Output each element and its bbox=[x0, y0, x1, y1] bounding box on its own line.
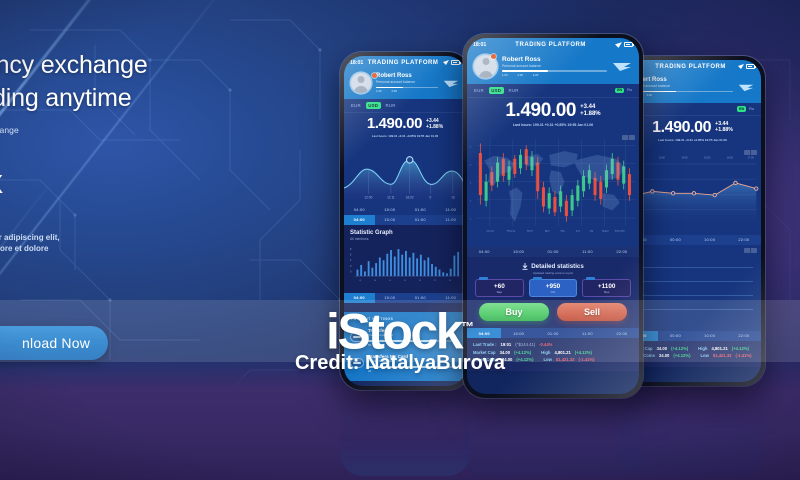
currency-rur-center[interactable]: RUR bbox=[509, 88, 519, 93]
zoom-toggle-right[interactable] bbox=[744, 150, 757, 155]
currency-rur-left[interactable]: RUR bbox=[386, 103, 396, 108]
price-value-center: 1.490.00 bbox=[505, 101, 576, 121]
svg-text:13:00: 13:00 bbox=[659, 156, 666, 159]
user-name-left: Robert Ross bbox=[376, 73, 438, 79]
price-deltas-right: +3.44 +1.88% bbox=[715, 121, 733, 133]
lang-badge-center[interactable]: EN bbox=[615, 88, 624, 94]
app-title-left: TRADING PLATFORM bbox=[363, 60, 443, 66]
tick-left: 1.00 bbox=[376, 89, 381, 93]
stat-value-sep: +60 bbox=[476, 283, 523, 290]
stat-value-oct: +950 bbox=[530, 283, 577, 290]
phone-left-reflection bbox=[340, 392, 470, 476]
signal-icon bbox=[443, 60, 449, 65]
time-tick-r4[interactable]: 22:00 bbox=[727, 235, 761, 245]
delta-pct-left: +1.88% bbox=[426, 124, 443, 130]
svg-text:26: 26 bbox=[449, 279, 451, 281]
promo-headline-line1: urrency exchange bbox=[0, 51, 148, 79]
profile-row-left[interactable]: Robert Ross Personal account balance 1.0… bbox=[344, 69, 466, 99]
stat-box-sep[interactable]: +60 Sep bbox=[475, 279, 524, 298]
svg-text:0: 0 bbox=[429, 195, 431, 199]
stat-box-oct[interactable]: +950 Oct bbox=[529, 279, 578, 298]
tick-c1: 1.00 bbox=[502, 73, 507, 77]
time-axis-left[interactable]: 04:00 15:00 01:00 11:00 bbox=[344, 205, 466, 215]
user-meta-right: Personal account balance bbox=[631, 84, 733, 88]
delta-pct-right: +1.88% bbox=[715, 127, 733, 133]
price-value-right: 1.490.00 bbox=[652, 119, 711, 136]
phone-right-reflection bbox=[620, 388, 765, 476]
time-axis-right[interactable]: 15:00 00:00 10:00 22:00 bbox=[624, 235, 761, 245]
statistic-graph-title: Statistic Graph bbox=[350, 230, 460, 236]
svg-text:16: 16 bbox=[451, 195, 455, 199]
battery-icon-right bbox=[746, 64, 755, 69]
status-icons-right bbox=[738, 64, 755, 69]
promo-subline: ons for exchange bbox=[0, 125, 252, 135]
avatar-left bbox=[351, 73, 371, 93]
svg-text:14:00: 14:00 bbox=[681, 156, 688, 159]
lang-alt-center[interactable]: Ru bbox=[627, 88, 632, 92]
battery-icon bbox=[451, 60, 460, 65]
tick-c3: 4.00 bbox=[533, 73, 538, 77]
time-tick-ct3[interactable]: 01:00 bbox=[536, 247, 570, 257]
promo-uiux-title: I/UX bbox=[0, 169, 252, 200]
istock-watermark-credit: Credit: NatalyaBurova bbox=[0, 352, 800, 375]
promo-copy: urrency exchange , trading anytime ons f… bbox=[0, 50, 252, 254]
status-bar-left: 18:01 TRADING PLATFORM bbox=[344, 56, 466, 69]
line-chart-right[interactable]: 12:0013:0014:00 15:0016:0017:00 bbox=[624, 147, 761, 235]
price-block-left: 1.490.00 +3.44 +1.88% Last hours: 199.31… bbox=[344, 113, 466, 143]
status-time-left: 18:01 bbox=[350, 60, 363, 66]
download-arrow-icon bbox=[522, 263, 528, 270]
profile-row-center[interactable]: Robert Ross Personal account balance 1.0… bbox=[467, 51, 639, 84]
promo-lorem-line2: didunt ut labore et dolore bbox=[0, 243, 252, 254]
time-tick-ct2[interactable]: 15:00 bbox=[501, 247, 535, 257]
time-tick-a1[interactable]: 04:00 bbox=[344, 215, 375, 225]
balance-progress-center bbox=[502, 70, 607, 72]
trademark-symbol: ™ bbox=[461, 319, 474, 334]
time-tick-ct1[interactable]: 04:00 bbox=[467, 247, 501, 257]
user-name-right: Robert Ross bbox=[631, 77, 733, 83]
currency-eur-center[interactable]: EUR bbox=[474, 88, 484, 93]
app-title-right: TRADING PLATFORM bbox=[643, 64, 738, 70]
svg-text:11:11: 11:11 bbox=[387, 195, 395, 199]
stat-value-nov: +1100 bbox=[583, 283, 630, 290]
stat-tag-nov bbox=[586, 277, 595, 280]
lang-badge-right[interactable]: EN bbox=[737, 106, 746, 112]
time-tick-3[interactable]: 01:00 bbox=[405, 205, 436, 215]
svg-text:12:00: 12:00 bbox=[364, 195, 372, 199]
app-title-center: TRADING PLATFORM bbox=[486, 42, 615, 48]
detailed-statistics-sub: Updated trading volume report bbox=[467, 271, 639, 279]
time-tick-4[interactable]: 11:00 bbox=[436, 205, 467, 215]
svg-text:06: 06 bbox=[374, 279, 376, 281]
time-tick-2[interactable]: 15:00 bbox=[375, 205, 406, 215]
time-axis-left-active[interactable]: 04:00 15:00 01:00 11:00 bbox=[344, 215, 466, 225]
svg-text:18: 18 bbox=[419, 279, 421, 281]
screenshot-stage: urrency exchange , trading anytime ons f… bbox=[0, 0, 800, 480]
currency-usd-left[interactable]: USD bbox=[366, 102, 381, 109]
status-bar-center: 18:01 TRADING PLATFORM bbox=[467, 38, 639, 51]
currency-strip-left[interactable]: EUR USD RUR bbox=[344, 99, 466, 113]
time-tick-r3[interactable]: 10:00 bbox=[693, 235, 727, 245]
svg-text:22: 22 bbox=[434, 279, 436, 281]
user-meta-left: Personal account balance bbox=[376, 80, 438, 84]
currency-strip-center[interactable]: EUR USD RUR EN Ru bbox=[467, 84, 639, 98]
stat-label-sep: Sep bbox=[476, 290, 523, 294]
tick-center: 2.00 bbox=[391, 89, 396, 93]
currency-strip-right[interactable]: RUR EN Ru bbox=[624, 103, 761, 116]
candlestick-chart-center[interactable]: JanuaryFebruaryMarch AprilMayJune JulyAu… bbox=[467, 132, 639, 247]
promo-lorem: , consectetur adipiscing elit, didunt ut… bbox=[0, 232, 252, 254]
notification-dot-center bbox=[491, 54, 496, 59]
svg-text:8: 8 bbox=[350, 248, 352, 251]
currency-usd-center[interactable]: USD bbox=[489, 87, 504, 94]
svg-text:2: 2 bbox=[350, 264, 352, 267]
profile-info-center: Robert Ross Personal account balance 1.0… bbox=[502, 56, 607, 77]
tick-right-2: 4.00 bbox=[646, 93, 651, 97]
statistic-graph-panel: Statistic Graph All mentions 864 20 bbox=[344, 225, 466, 293]
time-tick-a3[interactable]: 01:00 bbox=[405, 215, 436, 225]
svg-text:16:02: 16:02 bbox=[406, 195, 414, 199]
price-block-right: 1.490.00 +3.44 +1.88% Last hours: 199.31… bbox=[624, 116, 761, 147]
user-name-center: Robert Ross bbox=[502, 56, 607, 63]
notification-dot-left bbox=[372, 73, 377, 78]
profile-row-right[interactable]: Robert Ross Personal account balance 1.0… bbox=[624, 73, 761, 103]
svg-text:6: 6 bbox=[350, 253, 352, 256]
progress-ticks-right: 1.00 4.00 bbox=[631, 93, 733, 97]
promo-headline: urrency exchange , trading anytime bbox=[0, 50, 252, 113]
svg-text:10: 10 bbox=[389, 279, 391, 281]
area-chart-left[interactable]: 12:0011:11 16:02016 bbox=[344, 143, 466, 205]
zoom-toggle-center[interactable] bbox=[622, 135, 635, 140]
status-icons-left bbox=[443, 60, 460, 65]
svg-text:17:00: 17:00 bbox=[748, 156, 755, 159]
signal-icon-right bbox=[738, 64, 744, 69]
status-bar-right: 18:01 TRADING PLATFORM bbox=[624, 60, 761, 73]
time-tick-ct4[interactable]: 11:00 bbox=[570, 247, 604, 257]
battery-icon-center bbox=[624, 42, 633, 47]
currency-eur-left[interactable]: EUR bbox=[351, 103, 361, 108]
svg-text:15:00: 15:00 bbox=[704, 156, 711, 159]
stat-label-oct: Oct bbox=[530, 290, 577, 294]
svg-text:14: 14 bbox=[404, 279, 406, 281]
time-tick-r2[interactable]: 00:00 bbox=[658, 235, 692, 245]
price-value-left: 1.490.00 bbox=[367, 116, 422, 132]
stat-label-nov: Nov bbox=[583, 290, 630, 294]
promo-lorem-line1: , consectetur adipiscing elit, bbox=[0, 232, 252, 243]
last-hours-center: Last hours: 199.31 +0.31 +0.85% 19:55 Ja… bbox=[467, 123, 639, 127]
send-icon-center[interactable] bbox=[612, 61, 632, 72]
balance-progress-right bbox=[631, 91, 733, 93]
profile-info-right: Robert Ross Personal account balance 1.0… bbox=[631, 77, 733, 97]
promo-headline-line2: , trading anytime bbox=[0, 83, 252, 113]
phone-center-reflection bbox=[463, 400, 643, 478]
time-tick-1[interactable]: 04:00 bbox=[344, 205, 375, 215]
time-tick-ct5[interactable]: 22:00 bbox=[605, 247, 639, 257]
stat-tag-sep bbox=[479, 277, 488, 280]
stat-tag-oct bbox=[533, 277, 542, 280]
delta-pct-center: +1.88% bbox=[580, 111, 601, 118]
status-time-center: 18:01 bbox=[473, 42, 486, 48]
svg-text:4: 4 bbox=[350, 259, 352, 262]
time-tick-a4[interactable]: 11:00 bbox=[436, 215, 467, 225]
progress-ticks-center: 1.00 2.00 4.00 bbox=[502, 73, 607, 77]
tick-c2: 2.00 bbox=[517, 73, 522, 77]
price-deltas-left: +3.44 +1.88% bbox=[426, 118, 443, 130]
profile-info-left: Robert Ross Personal account balance 1.0… bbox=[376, 73, 438, 93]
send-icon-right[interactable] bbox=[738, 83, 754, 92]
zoom-toggle-right-2[interactable] bbox=[744, 248, 757, 253]
progress-ticks-left: 1.00 2.00 bbox=[376, 89, 438, 93]
send-icon-left[interactable] bbox=[443, 79, 459, 88]
detailed-statistics-header[interactable]: Detailed statistics bbox=[467, 257, 639, 271]
svg-text:02: 02 bbox=[359, 279, 361, 281]
price-deltas-center: +3.44 +1.88% bbox=[580, 104, 601, 118]
signal-icon-center bbox=[615, 42, 622, 48]
time-tick-a2[interactable]: 15:00 bbox=[375, 215, 406, 225]
stat-box-nov[interactable]: +1100 Nov bbox=[582, 279, 631, 298]
last-hours-left: Last hours: 199.31 +0.31 +0.85% 19:55 Ja… bbox=[344, 134, 466, 138]
detailed-statistics-label: Detailed statistics bbox=[531, 263, 584, 270]
statistic-bar-chart[interactable]: 864 20 bbox=[350, 244, 460, 284]
delta-abs-center: +3.44 bbox=[580, 104, 601, 111]
time-axis-center-top[interactable]: 04:00 15:00 01:00 11:00 22:00 bbox=[467, 247, 639, 257]
price-block-center: 1.490.00 +3.44 +1.88% Last hours: 199.31… bbox=[467, 98, 639, 132]
istock-watermark-logo: iStock™ bbox=[0, 300, 800, 359]
world-map-watermark bbox=[467, 132, 639, 242]
user-meta-center: Personal account balance bbox=[502, 64, 607, 68]
statistic-graph-subtitle: All mentions bbox=[350, 237, 460, 241]
balance-progress-left bbox=[376, 87, 438, 89]
last-hours-right: Last hours: 199.31 +0.31 +0.85% 19:55 Ja… bbox=[624, 138, 761, 142]
status-icons-center bbox=[615, 42, 633, 48]
promo-uiux-subtitle: Mobile App bbox=[0, 201, 252, 212]
svg-text:0: 0 bbox=[350, 270, 352, 273]
svg-text:16:00: 16:00 bbox=[727, 156, 734, 159]
lang-alt-right[interactable]: Ru bbox=[749, 107, 754, 111]
